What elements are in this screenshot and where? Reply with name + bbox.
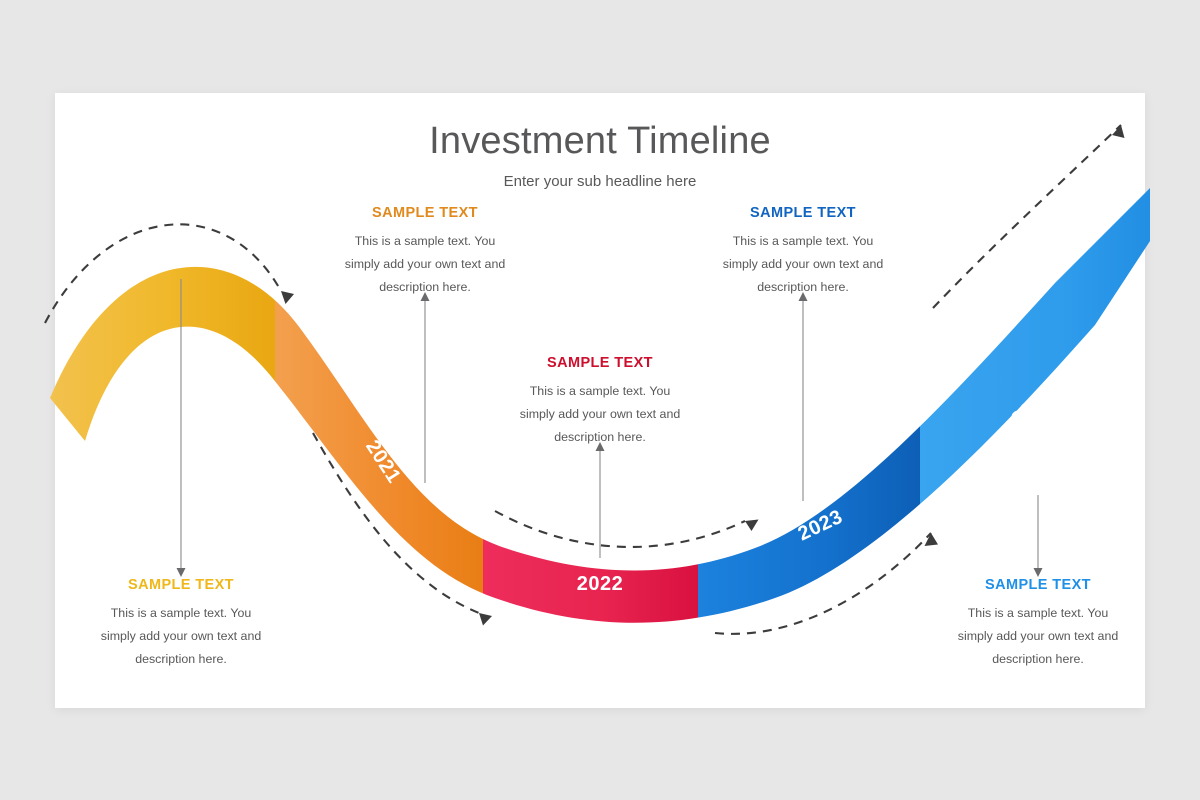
body-line-2: simply add your own text and (315, 253, 535, 276)
leader-arrow-2024 (1034, 568, 1043, 577)
arrowhead-3 (745, 520, 759, 532)
body-line-1: This is a sample text. You (693, 230, 913, 253)
leader-arrow-2020 (177, 568, 186, 577)
slide-canvas: Investment Timeline Enter your sub headl… (0, 0, 1200, 800)
body-line-3: description here. (71, 648, 291, 671)
body-line-2: simply add your own text and (490, 403, 710, 426)
year-label-2022: 2022 (577, 573, 624, 595)
body-line-1: This is a sample text. You (928, 602, 1148, 625)
body-line-1: This is a sample text. You (490, 380, 710, 403)
milestone-text-2022[interactable]: SAMPLE TEXT This is a sample text. You s… (490, 355, 710, 449)
body-line-3: description here. (490, 426, 710, 449)
milestone-heading-2022: SAMPLE TEXT (490, 355, 710, 371)
arrowhead-4 (925, 533, 939, 546)
milestone-body-2021: This is a sample text. You simply add yo… (315, 230, 535, 299)
body-line-3: description here. (928, 648, 1148, 671)
milestone-text-2020[interactable]: SAMPLE TEXT This is a sample text. You s… (71, 577, 291, 671)
dashed-arc-valley-top (495, 511, 745, 547)
milestone-heading-2024: SAMPLE TEXT (928, 577, 1148, 593)
milestone-text-2024[interactable]: SAMPLE TEXT This is a sample text. You s… (928, 577, 1148, 671)
body-line-2: simply add your own text and (928, 625, 1148, 648)
milestone-text-2021[interactable]: SAMPLE TEXT This is a sample text. You s… (315, 205, 535, 299)
milestone-heading-2023: SAMPLE TEXT (693, 205, 913, 221)
milestone-heading-2020: SAMPLE TEXT (71, 577, 291, 593)
arrowhead-2 (479, 613, 492, 626)
body-line-3: description here. (693, 276, 913, 299)
body-line-3: description here. (315, 276, 535, 299)
milestone-body-2020: This is a sample text. You simply add yo… (71, 602, 291, 671)
body-line-2: simply add your own text and (71, 625, 291, 648)
milestone-heading-2021: SAMPLE TEXT (315, 205, 535, 221)
body-line-1: This is a sample text. You (71, 602, 291, 625)
milestone-body-2022: This is a sample text. You simply add yo… (490, 380, 710, 449)
arrowhead-1 (281, 291, 294, 304)
milestone-text-2023[interactable]: SAMPLE TEXT This is a sample text. You s… (693, 205, 913, 299)
body-line-1: This is a sample text. You (315, 230, 535, 253)
milestone-body-2024: This is a sample text. You simply add yo… (928, 602, 1148, 671)
slide-card: Investment Timeline Enter your sub headl… (55, 93, 1145, 708)
body-line-2: simply add your own text and (693, 253, 913, 276)
milestone-body-2023: This is a sample text. You simply add yo… (693, 230, 913, 299)
